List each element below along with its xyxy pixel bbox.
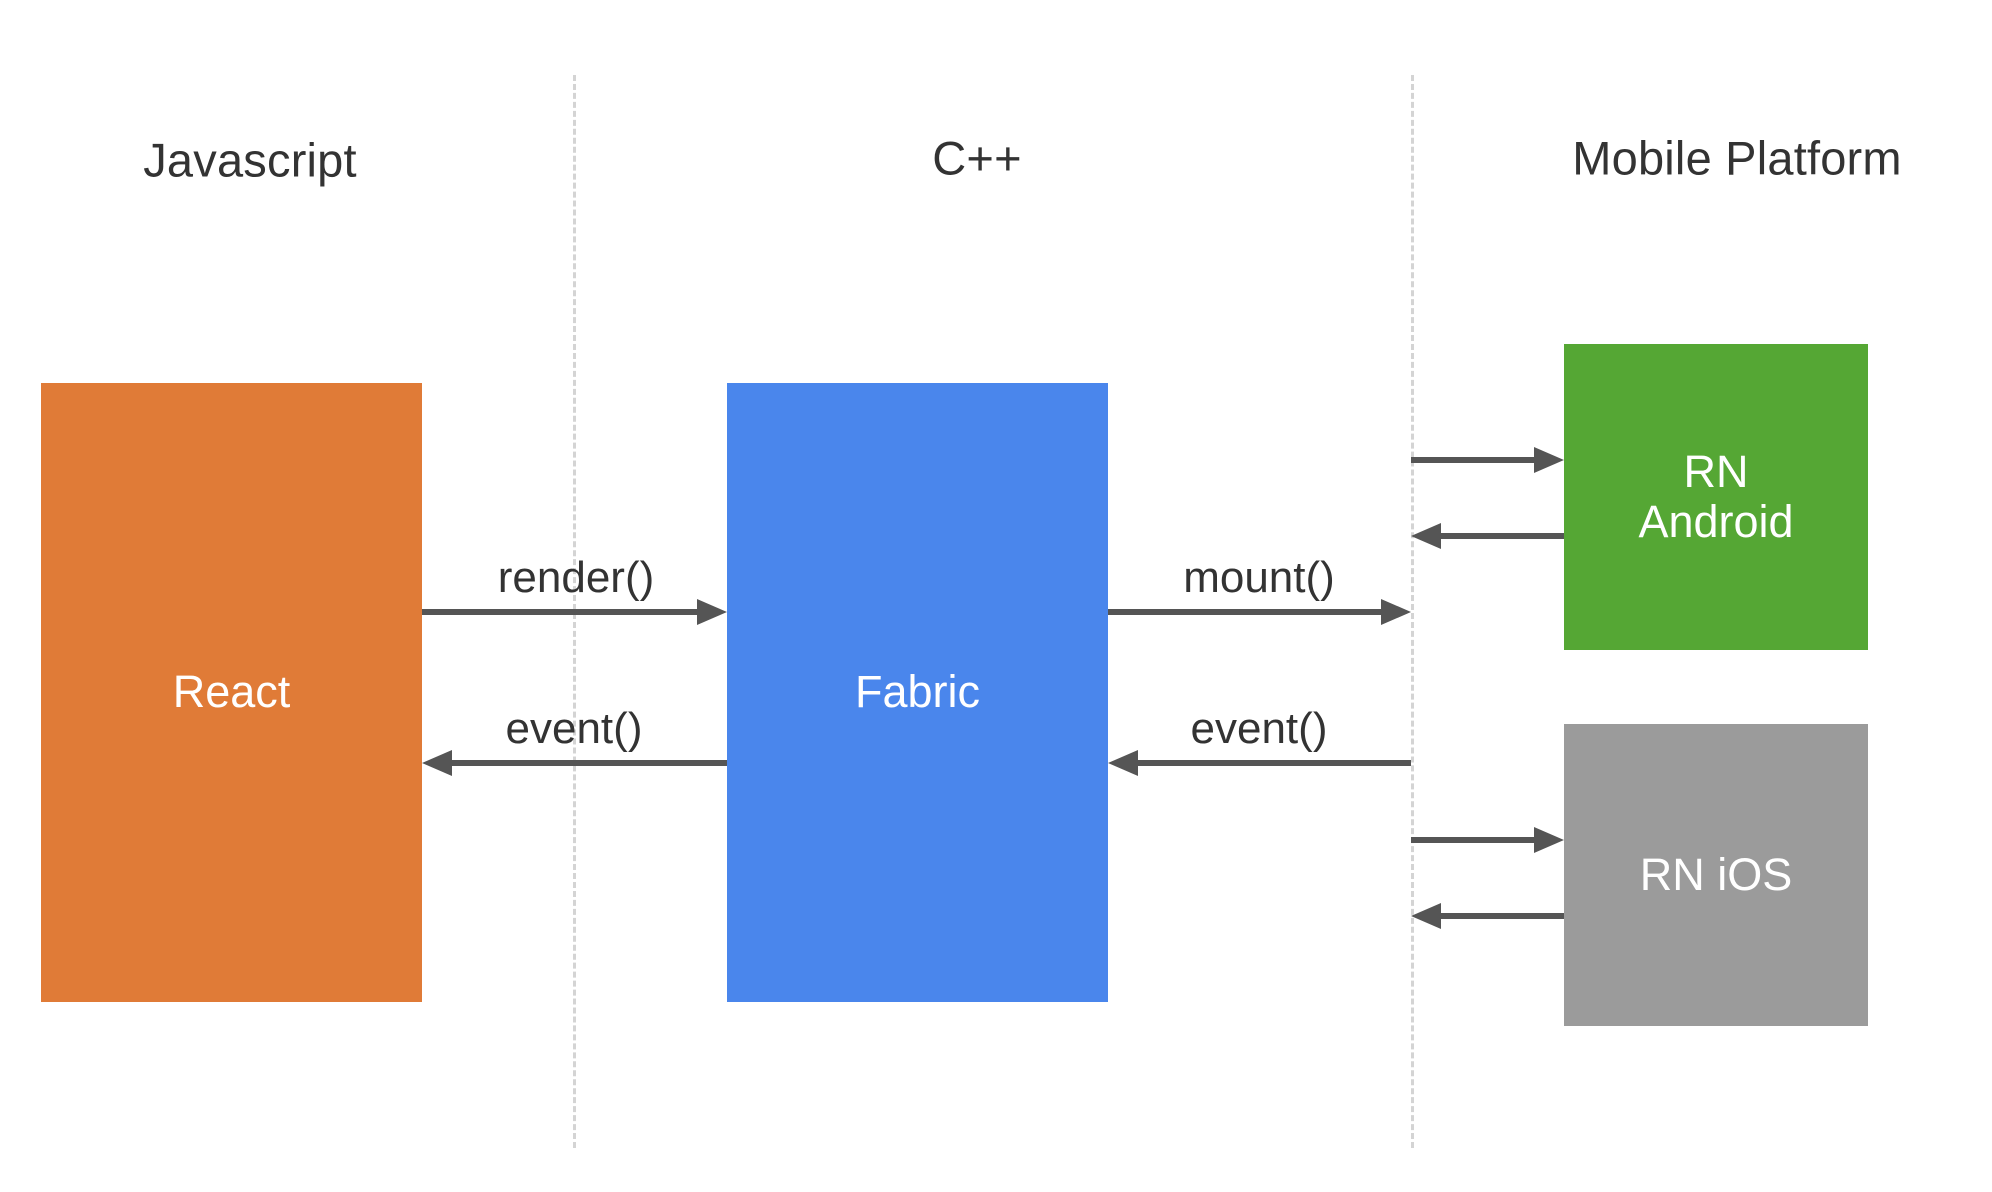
arrow-mount — [1108, 600, 1411, 624]
column-header-c-: C++ — [932, 135, 1021, 182]
arrow-android-out — [1411, 524, 1564, 548]
arrow-label-mount: mount() — [1183, 556, 1335, 600]
column-header-mobile-platform: Mobile Platform — [1572, 135, 1902, 182]
block-label-rn-android: RN Android — [1638, 447, 1793, 548]
block-fabric[interactable]: Fabric — [727, 383, 1108, 1002]
block-label-react: React — [173, 667, 291, 717]
arrow-ios-in — [1411, 828, 1564, 852]
block-rn-ios[interactable]: RN iOS — [1564, 724, 1868, 1026]
arrow-ios-out — [1411, 904, 1564, 928]
arrow-label-render: render() — [498, 556, 655, 600]
arrow-render — [422, 600, 727, 624]
layer-divider-1 — [1411, 75, 1414, 1148]
block-label-fabric: Fabric — [855, 667, 980, 717]
block-react[interactable]: React — [41, 383, 422, 1002]
column-header-javascript: Javascript — [143, 137, 357, 184]
block-rn-android[interactable]: RN Android — [1564, 344, 1868, 650]
diagram-canvas: JavascriptC++Mobile Platform ReactFabric… — [0, 0, 1992, 1192]
arrow-event-cpp — [1108, 751, 1411, 775]
block-label-rn-ios: RN iOS — [1640, 850, 1793, 900]
arrow-android-in — [1411, 448, 1564, 472]
arrow-label-event-cpp: event() — [1191, 707, 1328, 751]
arrow-event-js — [422, 751, 727, 775]
arrow-label-event-js: event() — [506, 707, 643, 751]
